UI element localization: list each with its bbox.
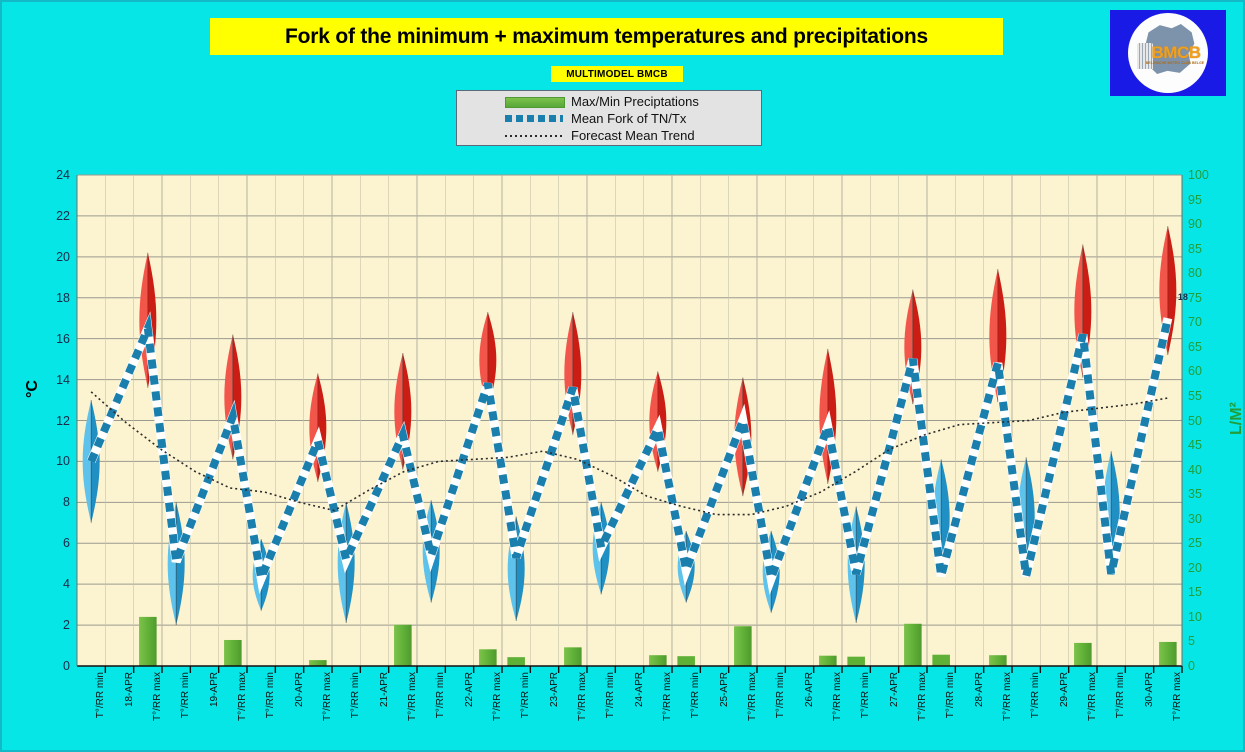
data-point-label: 18 (1178, 292, 1188, 302)
chart-plot-area (0, 0, 1245, 752)
